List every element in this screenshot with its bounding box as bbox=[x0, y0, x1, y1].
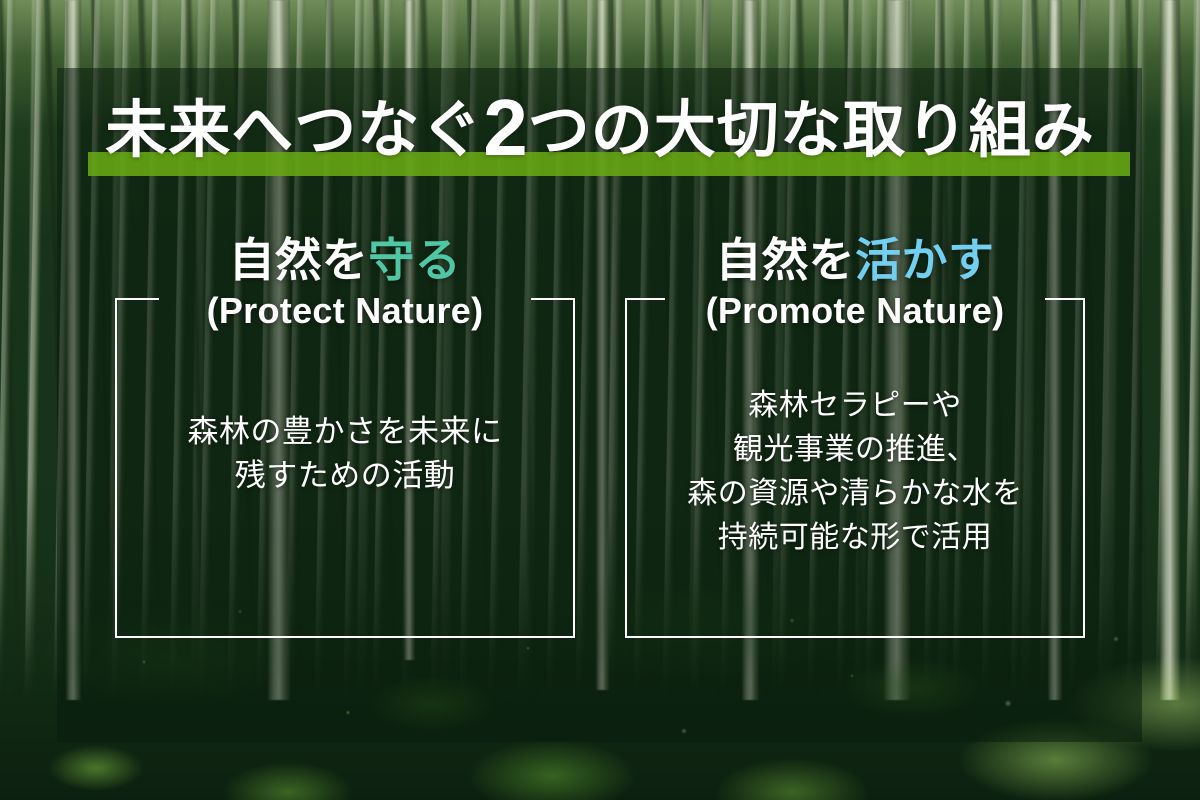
card-frame-right bbox=[1083, 298, 1085, 638]
card-promote-nature: 自然を活かす (Promote Nature) 森林セラピーや 観光事業の推進、… bbox=[625, 298, 1085, 638]
card-body-line: 森林の豊かさを未来に bbox=[188, 410, 503, 454]
card-title-plain: 自然を bbox=[229, 234, 369, 286]
card-body: 森林セラピーや 観光事業の推進、 森の資源や清らかな水を 持続可能な形で活用 bbox=[633, 298, 1077, 638]
card-body-line: 森林セラピーや bbox=[748, 384, 962, 428]
card-body-line: 観光事業の推進、 bbox=[733, 428, 977, 472]
card-frame-right bbox=[573, 298, 575, 638]
headline-block: 未来へつなぐ2つの大切な取り組み bbox=[0, 86, 1200, 176]
card-body-line: 森の資源や清らかな水を bbox=[687, 472, 1023, 516]
card-title-accent: 活かす bbox=[855, 234, 995, 286]
headline-number: 2 bbox=[483, 83, 528, 172]
page-title: 未来へつなぐ2つの大切な取り組み bbox=[0, 86, 1200, 173]
card-title: 自然を守る bbox=[95, 234, 595, 286]
card-protect-nature: 自然を守る (Protect Nature) 森林の豊かさを未来に 残すための活… bbox=[115, 298, 575, 638]
card-title-accent: 守る bbox=[368, 234, 461, 286]
card-title-plain: 自然を bbox=[716, 234, 856, 286]
card-body-line: 持続可能な形で活用 bbox=[718, 516, 993, 560]
card-frame-left bbox=[115, 298, 117, 638]
headline-prefix: 未来へつなぐ bbox=[105, 96, 483, 165]
headline-suffix: つの大切な取り組み bbox=[528, 96, 1095, 165]
banner-canvas: 未来へつなぐ2つの大切な取り組み 自然を守る (Protect Nature) … bbox=[0, 0, 1200, 800]
card-title: 自然を活かす bbox=[605, 234, 1105, 286]
card-body: 森林の豊かさを未来に 残すための活動 bbox=[123, 298, 567, 638]
card-frame-left bbox=[625, 298, 627, 638]
card-body-line: 残すための活動 bbox=[235, 454, 456, 498]
